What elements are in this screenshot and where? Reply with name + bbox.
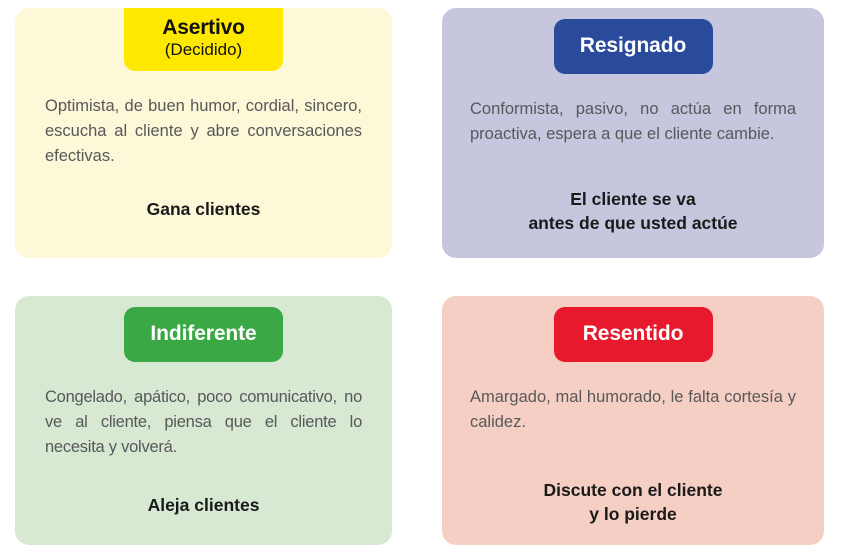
badge-resignado: Resignado bbox=[554, 19, 713, 74]
card-resignado: Resignado Conformista, pasivo, no actúa … bbox=[442, 8, 824, 258]
card-resentido: Resentido Amargado, mal humorado, le fal… bbox=[442, 296, 824, 545]
description-asertivo: Optimista, de buen humor, cordial, since… bbox=[45, 94, 362, 169]
tagline-wrap-indiferente: Aleja clientes bbox=[15, 493, 392, 517]
tagline-wrap-resignado: El cliente se va antes de que usted actú… bbox=[442, 187, 824, 235]
tagline-resentido: Discute con el cliente y lo pierde bbox=[442, 478, 824, 526]
card-indiferente: Indiferente Congelado, apático, poco com… bbox=[15, 296, 392, 545]
quadrant-grid: Asertivo (Decidido) Optimista, de buen h… bbox=[0, 0, 849, 551]
badge-title-resignado: Resignado bbox=[580, 35, 686, 58]
description-indiferente: Congelado, apático, poco comunicativo, n… bbox=[45, 385, 362, 460]
tagline-asertivo: Gana clientes bbox=[15, 197, 392, 221]
badge-resentido: Resentido bbox=[554, 307, 713, 362]
tagline-wrap-asertivo: Gana clientes bbox=[15, 197, 392, 221]
badge-row-resignado: Resignado bbox=[442, 8, 824, 74]
tagline-wrap-resentido: Discute con el cliente y lo pierde bbox=[442, 478, 824, 526]
card-asertivo: Asertivo (Decidido) Optimista, de buen h… bbox=[15, 8, 392, 258]
badge-title-resentido: Resentido bbox=[583, 323, 684, 346]
description-wrap-resentido: Amargado, mal humorado, le falta cortesí… bbox=[442, 385, 824, 435]
tagline-resignado: El cliente se va antes de que usted actú… bbox=[442, 187, 824, 235]
description-wrap-resignado: Conformista, pasivo, no actúa en forma p… bbox=[442, 97, 824, 147]
badge-title-indiferente: Indiferente bbox=[150, 323, 256, 346]
description-wrap-indiferente: Congelado, apático, poco comunicativo, n… bbox=[15, 385, 392, 460]
badge-indiferente: Indiferente bbox=[124, 307, 283, 362]
description-wrap-asertivo: Optimista, de buen humor, cordial, since… bbox=[15, 94, 392, 169]
description-resentido: Amargado, mal humorado, le falta cortesí… bbox=[470, 385, 796, 435]
badge-asertivo: Asertivo (Decidido) bbox=[124, 8, 283, 71]
badge-row-resentido: Resentido bbox=[442, 296, 824, 362]
tagline-indiferente: Aleja clientes bbox=[15, 493, 392, 517]
badge-row-indiferente: Indiferente bbox=[15, 296, 392, 362]
badge-subtitle-asertivo: (Decidido) bbox=[165, 41, 242, 59]
badge-title-asertivo: Asertivo bbox=[162, 17, 244, 40]
description-resignado: Conformista, pasivo, no actúa en forma p… bbox=[470, 97, 796, 147]
badge-row-asertivo: Asertivo (Decidido) bbox=[15, 8, 392, 71]
